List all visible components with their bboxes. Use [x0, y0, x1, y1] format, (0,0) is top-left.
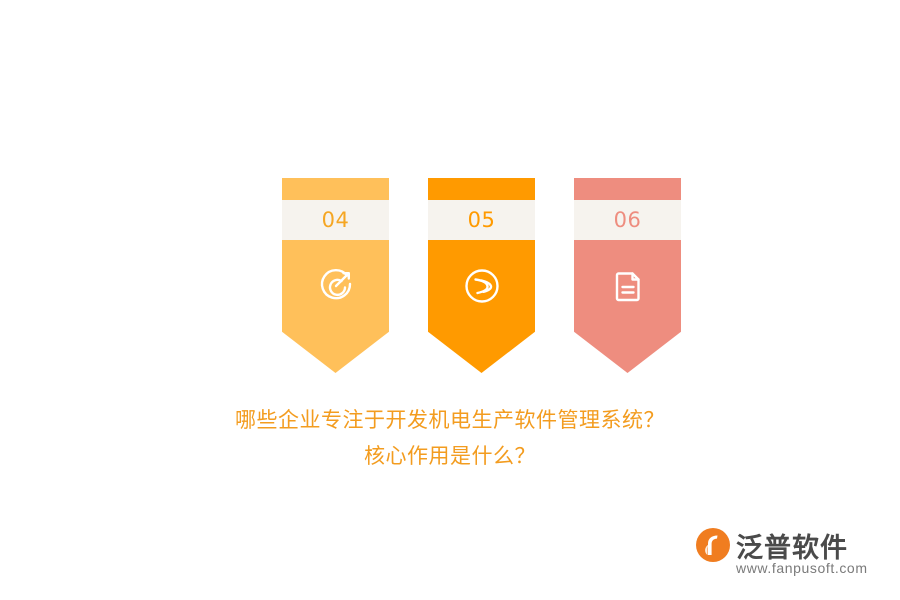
watermark-logo: 泛普软件 www.fanpusoft.com: [696, 526, 886, 584]
banner-number-band: 06: [574, 200, 681, 240]
banner-number: 05: [468, 208, 496, 232]
banner-number: 06: [614, 208, 642, 232]
document-file-icon: [606, 264, 650, 308]
caption-text: 哪些企业专注于开发机电生产软件管理系统？ 核心作用是什么？: [0, 402, 900, 474]
diagram-canvas: 04 05: [0, 0, 900, 600]
banner-group: 04 05: [282, 178, 682, 373]
banner-body: [282, 240, 389, 373]
caption-line-2: 核心作用是什么？: [0, 438, 900, 474]
banner-item-06[interactable]: 06: [574, 178, 681, 373]
banner-item-05[interactable]: 05: [428, 178, 535, 373]
banner-number: 04: [322, 208, 350, 232]
logo-url: www.fanpusoft.com: [736, 560, 868, 576]
banner-number-band: 05: [428, 200, 535, 240]
banner-top-bar: [574, 178, 681, 200]
banner-top-bar: [428, 178, 535, 200]
target-arrow-icon: [314, 264, 358, 308]
banner-item-04[interactable]: 04: [282, 178, 389, 373]
banner-body: [574, 240, 681, 373]
caption-line-1: 哪些企业专注于开发机电生产软件管理系统？: [0, 402, 900, 438]
fanpu-f-logo-icon: [696, 528, 730, 562]
banner-number-band: 04: [282, 200, 389, 240]
banner-top-bar: [282, 178, 389, 200]
fast-forward-circle-icon: [460, 264, 504, 308]
banner-body: [428, 240, 535, 373]
